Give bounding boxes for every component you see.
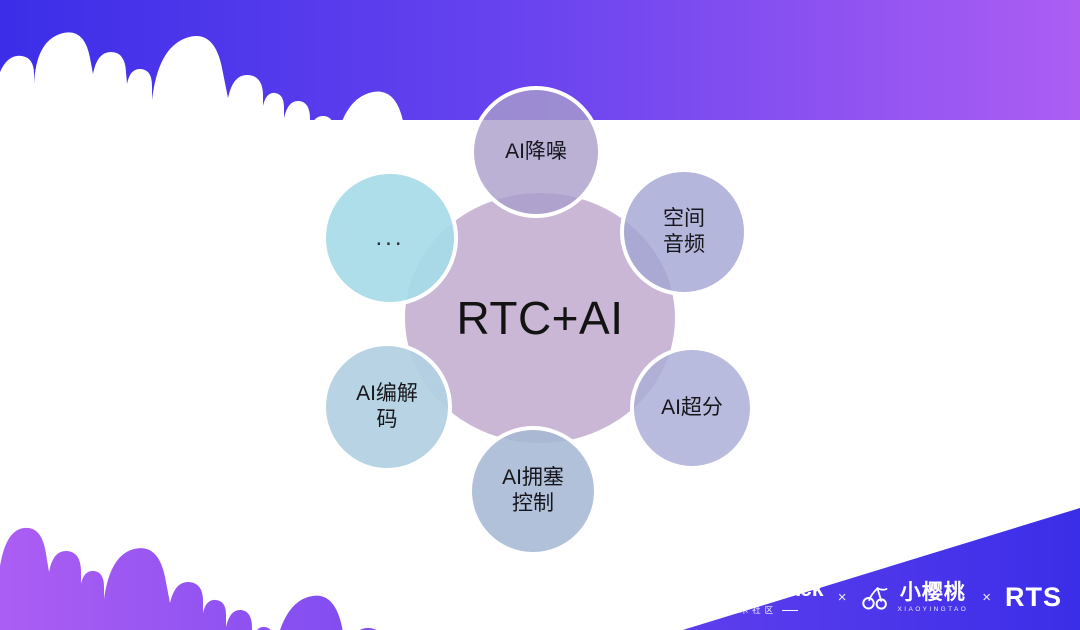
node-spatial-audio-label-line1: 空间 xyxy=(657,206,711,232)
node-ai-codec-label-line1: AI编解 xyxy=(350,381,424,407)
node-ai-denoise[interactable]: AI降噪 xyxy=(470,86,602,218)
node-ai-denoise-label: AI降噪 xyxy=(499,139,573,165)
node-ai-congestion-control-label-line1: AI拥塞 xyxy=(496,465,570,491)
rtc-ai-radial-diagram: RTC+AI AI降噪 空间 音频 AI超分 AI拥塞 控制 AI编解 码 xyxy=(300,78,800,558)
rts-logo[interactable]: RTS xyxy=(1005,584,1062,611)
xiaoyingtao-logo[interactable]: 小樱桃 XIAOYINGTAO xyxy=(861,582,969,613)
xiaoyingtao-wordmark: 小樱桃 XIAOYINGTAO xyxy=(898,582,969,613)
livevideostack-subtitle: 音视频技术社区 xyxy=(669,604,799,616)
rule-left xyxy=(669,610,685,611)
livevideostack-subtitle-text: 音视频技术社区 xyxy=(690,604,778,616)
rule-right xyxy=(782,610,798,611)
livevideostack-video: Video xyxy=(698,579,752,600)
livevideostack-wordmark: Live Video Stack xyxy=(643,579,824,600)
livevideostack-live: Live xyxy=(659,579,698,600)
node-spatial-audio-label-line2: 音频 xyxy=(657,232,711,258)
node-more-ellipsis[interactable]: ... xyxy=(322,170,458,306)
node-spatial-audio[interactable]: 空间 音频 xyxy=(620,168,748,296)
center-hub-label: RTC+AI xyxy=(456,291,623,345)
livevideostack-logo[interactable]: Live Video Stack 音视频技术社区 xyxy=(643,579,824,616)
cherry-icon xyxy=(861,586,891,610)
node-ai-codec[interactable]: AI编解 码 xyxy=(322,342,452,472)
node-ai-super-resolution-label: AI超分 xyxy=(655,395,729,421)
xiaoyingtao-cn: 小樱桃 xyxy=(900,582,966,603)
livevideostack-stack: Stack xyxy=(767,579,824,600)
node-ai-super-resolution[interactable]: AI超分 xyxy=(630,346,754,470)
footer-logo-lockup: Live Video Stack 音视频技术社区 × 小樱桃 xyxy=(643,579,1062,616)
logo-separator-2: × xyxy=(982,589,991,606)
node-ai-codec-label-line2: 码 xyxy=(350,407,424,433)
node-ai-congestion-control-label-line2: 控制 xyxy=(496,491,570,517)
play-icon xyxy=(643,583,657,597)
slide-canvas: RTC+AI AI降噪 空间 音频 AI超分 AI拥塞 控制 AI编解 码 xyxy=(0,0,1080,630)
logo-separator-1: × xyxy=(838,589,847,606)
record-dot-icon xyxy=(754,584,766,596)
node-ai-congestion-control[interactable]: AI拥塞 控制 xyxy=(468,426,598,556)
node-more-ellipsis-label: ... xyxy=(369,223,410,252)
xiaoyingtao-en: XIAOYINGTAO xyxy=(898,606,969,613)
